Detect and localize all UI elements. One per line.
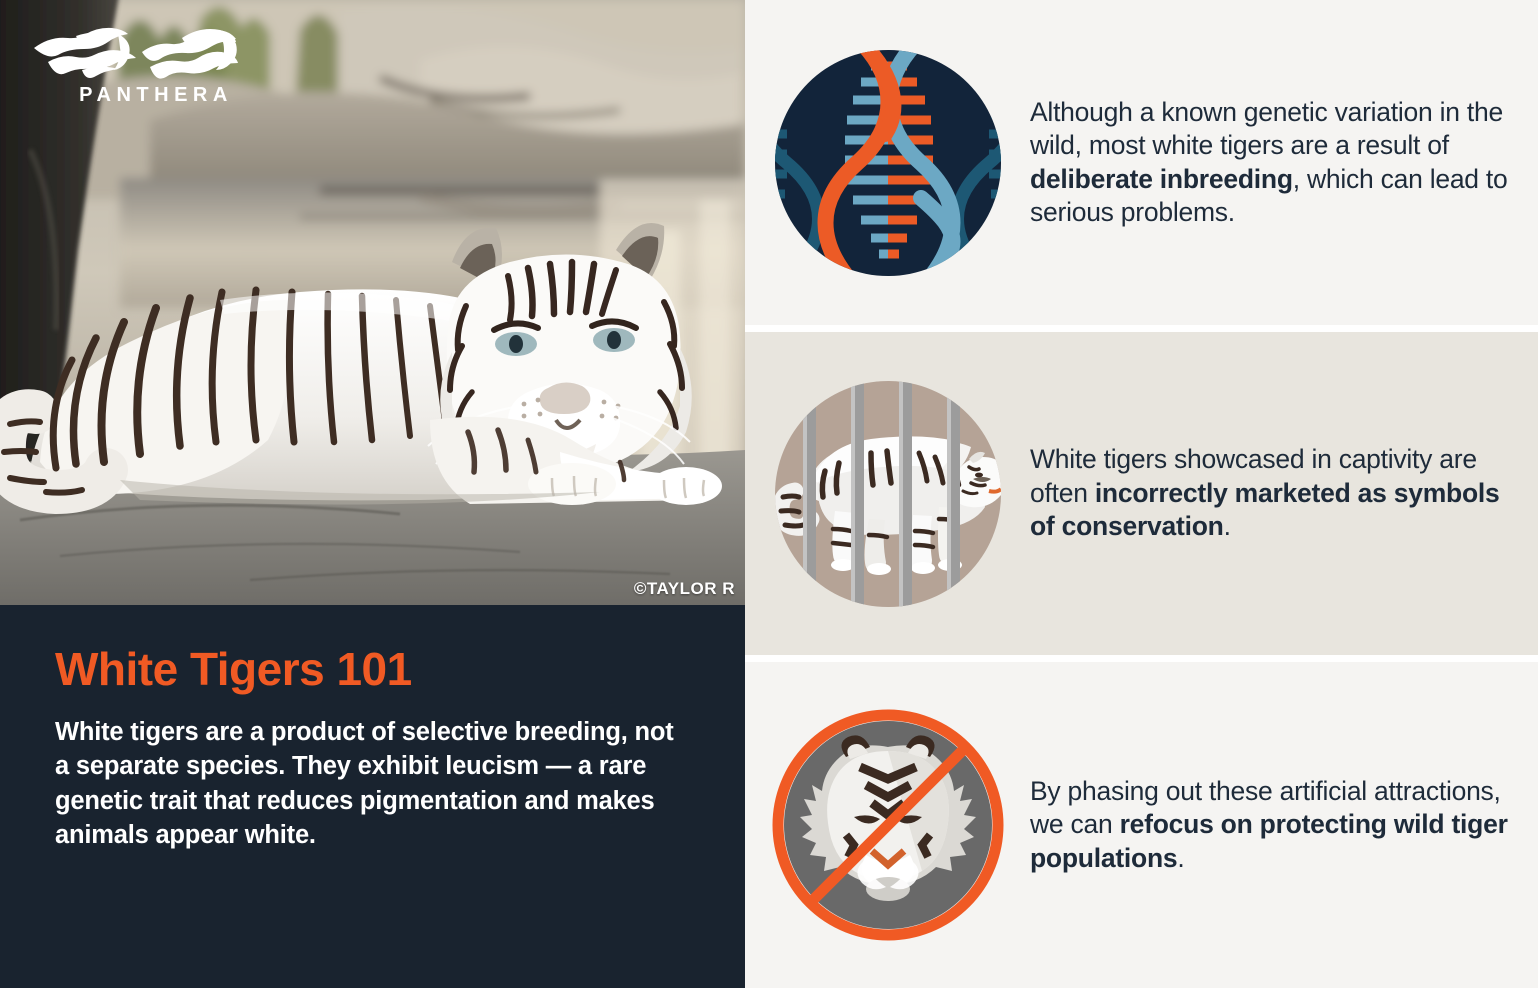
panel-captivity-text: White tigers showcased in captivity are … [1030, 443, 1538, 543]
panel-phase-out-text: By phasing out these artificial attracti… [1030, 775, 1538, 875]
page-title: White Tigers 101 [55, 645, 690, 693]
intro-body: White tigers are a product of selective … [55, 715, 690, 852]
panthera-wordmark: PANTHERA [30, 84, 240, 107]
hero-photo: PANTHERA ©TAYLOR R [0, 0, 745, 605]
panthera-logo: PANTHERA [30, 22, 240, 110]
prohibit-icon-wrap [745, 705, 1030, 945]
cage-icon-wrap [745, 379, 1030, 609]
photo-credit: ©TAYLOR R [634, 579, 735, 599]
infographic-root: PANTHERA ©TAYLOR R White Tigers 101 Whit… [0, 0, 1538, 988]
intro-text-block: White Tigers 101 White tigers are a prod… [0, 605, 745, 988]
no-tiger-attraction-icon [768, 705, 1008, 945]
left-column: PANTHERA ©TAYLOR R White Tigers 101 Whit… [0, 0, 745, 988]
panel-captivity: White tigers showcased in captivity are … [745, 332, 1538, 655]
panel-genetics-text: Although a known genetic variation in th… [1030, 96, 1538, 230]
dna-helix-icon [773, 48, 1003, 278]
panel-phase-out: By phasing out these artificial attracti… [745, 662, 1538, 988]
caged-tiger-icon [773, 379, 1003, 609]
panel-genetics: Although a known genetic variation in th… [745, 0, 1538, 325]
dna-icon-wrap [745, 48, 1030, 278]
panthera-running-cat-logo-icon [30, 22, 240, 88]
